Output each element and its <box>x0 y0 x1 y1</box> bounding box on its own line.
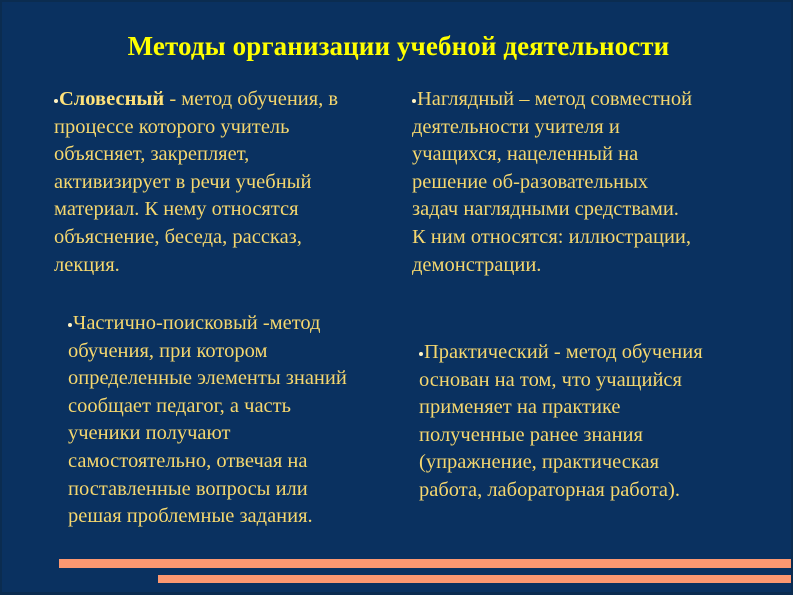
text-line: обучения, при котором <box>68 338 418 366</box>
text-line: самостоятельно, отвечая на <box>68 448 418 476</box>
text-line: Словесный - метод обучения, в <box>54 86 414 114</box>
text-line: работа, лабораторная работа). <box>419 477 785 505</box>
text-line-rest: Практический - метод обучения <box>424 341 703 363</box>
text-line: задач наглядными средствами. <box>412 196 784 224</box>
text-line: процессе которого учитель <box>54 114 414 142</box>
text-line: решая проблемные задания. <box>68 503 418 531</box>
decorative-bar-upper <box>59 559 791 568</box>
text-line: активизирует в речи учебный <box>54 169 414 197</box>
text-block-partial-search-method: Частично-поисковый -метод обучения, при … <box>68 310 418 531</box>
text-block-practical-method: Практический - метод обучения основан на… <box>419 339 785 505</box>
bullet-icon <box>412 99 416 103</box>
bullet-icon <box>68 323 72 327</box>
text-line: материал. К нему относятся <box>54 196 414 224</box>
text-line-rest: - метод обучения, в <box>164 88 338 110</box>
text-line: решение об-разовательных <box>412 169 784 197</box>
text-line-rest: Наглядный – метод совместной <box>417 88 692 110</box>
text-line: ученики получают <box>68 420 418 448</box>
text-line: Практический - метод обучения <box>419 339 785 367</box>
text-line: (упражнение, практическая <box>419 449 785 477</box>
text-line: применяет на практике <box>419 394 785 422</box>
text-block-verbal-method: Словесный - метод обучения, в процессе к… <box>54 86 414 279</box>
bullet-icon <box>54 99 58 103</box>
text-line: объясняет, закрепляет, <box>54 141 414 169</box>
text-block-visual-method: Наглядный – метод совместной деятельност… <box>412 86 784 279</box>
decorative-bar-lower <box>158 575 791 583</box>
text-line: Наглядный – метод совместной <box>412 86 784 114</box>
text-line: сообщает педагог, а часть <box>68 393 418 421</box>
text-line: учащихся, нацеленный на <box>412 141 784 169</box>
text-line: полученные ранее знания <box>419 422 785 450</box>
text-line: объяснение, беседа, рассказ, <box>54 224 414 252</box>
text-line: деятельности учителя и <box>412 114 784 142</box>
page-title: Методы организации учебной деятельности <box>2 30 793 62</box>
text-line: лекция. <box>54 252 414 280</box>
text-line: поставленные вопросы или <box>68 476 418 504</box>
text-line: К ним относятся: иллюстрации, <box>412 224 784 252</box>
text-line: демонстрации. <box>412 252 784 280</box>
presentation-slide: Методы организации учебной деятельности … <box>0 0 793 595</box>
text-line-rest: Частично-поисковый -метод <box>73 312 321 334</box>
text-line: определенные элементы знаний <box>68 365 418 393</box>
text-line: Частично-поисковый -метод <box>68 310 418 338</box>
text-line: основан на том, что учащийся <box>419 367 785 395</box>
text-lead: Словесный <box>59 88 164 110</box>
bullet-icon <box>419 352 423 356</box>
